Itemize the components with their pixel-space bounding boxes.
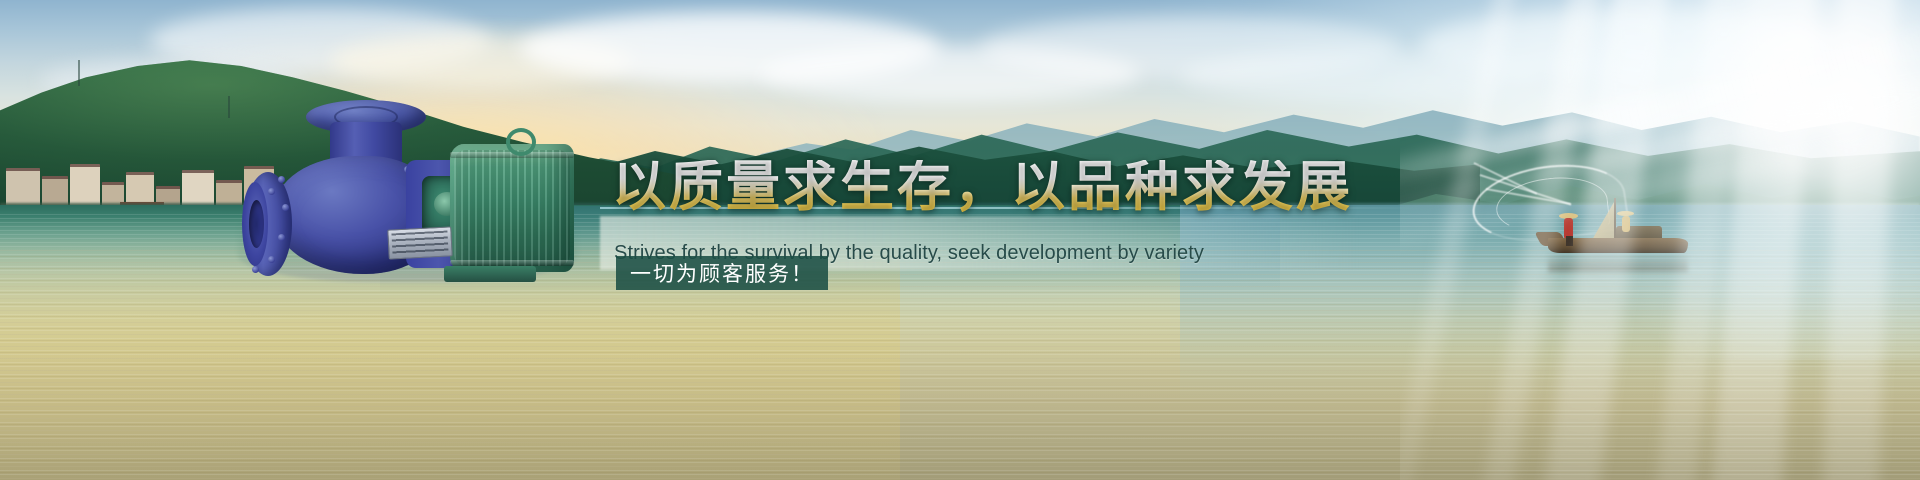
- flange-bolt: [268, 188, 275, 195]
- flange-bolt: [252, 266, 259, 273]
- fisherman-leg: [1566, 236, 1573, 246]
- power-pylon: [228, 96, 230, 118]
- flange-bolt: [282, 204, 289, 211]
- second-fisherman: [1622, 216, 1630, 232]
- motor-lifting-eye: [506, 128, 536, 156]
- motor-cooling-fins: [454, 150, 570, 266]
- nameplate-text-lines: [391, 231, 448, 256]
- banner-headline: 以质量求生存，以品种求发展: [612, 160, 1353, 214]
- flange-bolt: [268, 256, 275, 263]
- product-pump-image: [238, 100, 578, 285]
- pump-nameplate: [387, 226, 452, 259]
- power-pylon: [78, 60, 80, 86]
- boat-reflection: [1548, 254, 1688, 272]
- service-slogan-badge: 一切为顾客服务！: [616, 256, 828, 290]
- fishing-boat: [1530, 196, 1720, 286]
- flange-bolt: [278, 234, 285, 241]
- hero-banner: 以质量求生存，以品种求发展 Strives for the survival b…: [0, 0, 1920, 480]
- pump-suction-bore: [249, 200, 264, 248]
- flange-bolt: [278, 176, 285, 183]
- fisherman: [1564, 218, 1573, 238]
- motor-base: [444, 266, 536, 282]
